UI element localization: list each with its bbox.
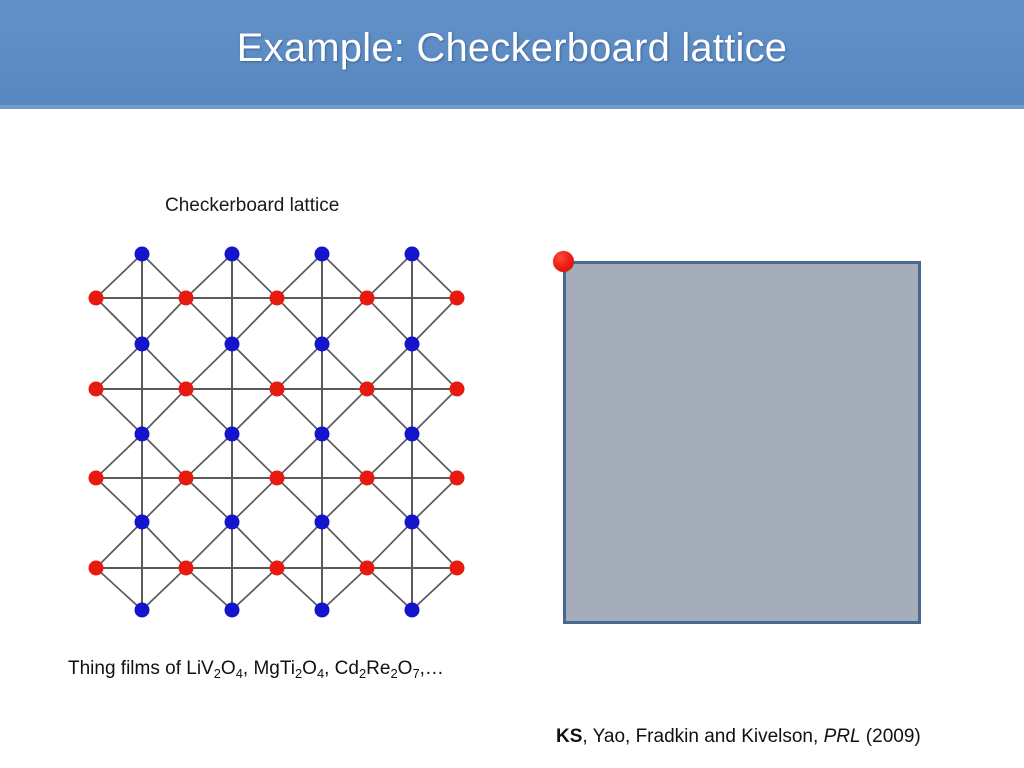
lattice-bond-diagonal	[367, 254, 412, 298]
lattice-node-blue	[135, 337, 150, 352]
lattice-bond-diagonal	[142, 389, 186, 434]
lattice-node-blue	[405, 247, 420, 262]
lattice-node-red	[360, 471, 375, 486]
lattice-bond-diagonal	[412, 522, 457, 568]
lattice-node-red	[89, 291, 104, 306]
lattice-bond-diagonal	[186, 298, 232, 344]
lattice-bond-diagonal	[232, 389, 277, 434]
caption-text: O	[302, 658, 317, 679]
lattice-bond-diagonal	[96, 434, 142, 478]
caption-subscript: 2	[295, 666, 302, 681]
lattice-node-red	[179, 471, 194, 486]
lattice-bond-diagonal	[367, 344, 412, 389]
lattice-bond-diagonal	[367, 522, 412, 568]
lattice-bond-diagonal	[322, 389, 367, 434]
citation-author-bold: KS	[556, 726, 582, 747]
lattice-node-red	[450, 382, 465, 397]
lattice-bond-diagonal	[367, 389, 412, 434]
lattice-node-red	[450, 291, 465, 306]
caption-subscript: 2	[359, 666, 366, 681]
lattice-node-blue	[225, 337, 240, 352]
lattice-node-red	[89, 471, 104, 486]
lattice-bond-diagonal	[322, 434, 367, 478]
lattice-bond-diagonal	[412, 344, 457, 389]
lattice-node-red	[179, 561, 194, 576]
lattice-bond-diagonal	[96, 478, 142, 522]
caption-subscript: 4	[317, 666, 324, 681]
lattice-bond-diagonal	[322, 298, 367, 344]
caption-text: O	[398, 658, 413, 679]
lattice-node-blue	[135, 247, 150, 262]
citation-year: (2009)	[861, 726, 921, 747]
lattice-bond-diagonal	[232, 344, 277, 389]
lattice-node-red	[179, 382, 194, 397]
lattice-bond-diagonal	[142, 434, 186, 478]
lattice-node-blue	[405, 337, 420, 352]
lattice-node-blue	[315, 247, 330, 262]
lattice-bond-diagonal	[142, 344, 186, 389]
lattice-node-red	[360, 561, 375, 576]
lattice-bond-diagonal	[142, 522, 186, 568]
citation-authors: , Yao, Fradkin and Kivelson,	[582, 726, 823, 747]
lattice-bond-diagonal	[186, 522, 232, 568]
lattice-bond-diagonal	[277, 522, 322, 568]
lattice-bond-diagonal	[412, 298, 457, 344]
lattice-bond-diagonal	[367, 478, 412, 522]
lattice-bond-diagonal	[367, 568, 412, 610]
checkerboard-lattice-figure	[80, 238, 480, 630]
caption-text: , MgTi	[243, 658, 295, 679]
lattice-bond-diagonal	[96, 389, 142, 434]
lattice-bond-diagonal	[277, 389, 322, 434]
lattice-node-blue	[225, 603, 240, 618]
title-banner-bottom-edge	[0, 105, 1024, 109]
lattice-nodes	[89, 247, 465, 618]
lattice-bond-diagonal	[367, 298, 412, 344]
page-title: Example: Checkerboard lattice	[0, 26, 1024, 71]
lattice-bond-diagonal	[412, 434, 457, 478]
lattice-bond-diagonal	[232, 434, 277, 478]
lattice-bond-diagonal	[232, 254, 277, 298]
lattice-bond-diagonal	[186, 254, 232, 298]
lattice-node-blue	[135, 603, 150, 618]
lattice-bond-diagonal	[412, 568, 457, 610]
lattice-bond-diagonal	[142, 478, 186, 522]
caption-subscript: 4	[236, 666, 243, 681]
lattice-bond-diagonal	[322, 344, 367, 389]
lattice-node-blue	[225, 515, 240, 530]
lattice-node-blue	[225, 427, 240, 442]
caption-subscript: 7	[412, 666, 419, 681]
caption-text: ,…	[420, 658, 444, 679]
lattice-node-blue	[315, 515, 330, 530]
lattice-bond-diagonal	[412, 478, 457, 522]
lattice-bond-diagonal	[186, 434, 232, 478]
lattice-bond-diagonal	[322, 478, 367, 522]
lattice-node-blue	[315, 603, 330, 618]
lattice-bond-diagonal	[186, 344, 232, 389]
lattice-bond-diagonal	[277, 254, 322, 298]
lattice-node-red	[270, 291, 285, 306]
lattice-bond-diagonal	[367, 434, 412, 478]
lattice-bond-diagonal	[232, 568, 277, 610]
lattice-node-red	[360, 291, 375, 306]
lattice-node-blue	[315, 427, 330, 442]
lattice-node-red	[360, 382, 375, 397]
caption-text: Thing films of LiV	[68, 658, 214, 679]
lattice-bond-diagonal	[96, 344, 142, 389]
caption-text: O	[221, 658, 236, 679]
lattice-node-blue	[135, 427, 150, 442]
lattice-node-blue	[225, 247, 240, 262]
lattice-bond-diagonal	[186, 389, 232, 434]
title-banner: Example: Checkerboard lattice	[0, 0, 1024, 109]
lattice-node-blue	[405, 603, 420, 618]
lattice-node-blue	[405, 427, 420, 442]
caption-text: , Cd	[324, 658, 359, 679]
lattice-figure-label: Checkerboard lattice	[165, 195, 339, 217]
lattice-bond-diagonal	[277, 298, 322, 344]
lattice-bonds	[96, 254, 457, 610]
gray-panel	[563, 261, 921, 624]
citation-line: KS, Yao, Fradkin and Kivelson, PRL (2009…	[556, 726, 921, 748]
lattice-node-red	[179, 291, 194, 306]
lattice-bond-diagonal	[232, 478, 277, 522]
caption-subscript: 2	[214, 666, 221, 681]
lattice-bond-diagonal	[277, 478, 322, 522]
materials-caption: Thing films of LiV2O4, MgTi2O4, Cd2Re2O7…	[68, 658, 444, 680]
lattice-node-red	[270, 382, 285, 397]
lattice-bond-diagonal	[412, 389, 457, 434]
lattice-node-blue	[135, 515, 150, 530]
lattice-bond-diagonal	[96, 568, 142, 610]
lattice-bond-diagonal	[322, 254, 367, 298]
lattice-bond-diagonal	[277, 568, 322, 610]
lattice-node-red	[450, 471, 465, 486]
lattice-bond-diagonal	[277, 344, 322, 389]
lattice-bond-diagonal	[142, 298, 186, 344]
lattice-bond-diagonal	[142, 568, 186, 610]
lattice-node-red	[270, 561, 285, 576]
caption-text: Re	[366, 658, 390, 679]
lattice-node-blue	[315, 337, 330, 352]
lattice-bond-diagonal	[186, 478, 232, 522]
slide-canvas: Example: Checkerboard lattice Checkerboa…	[0, 0, 1024, 768]
lattice-bond-diagonal	[277, 434, 322, 478]
lattice-diagram	[80, 238, 480, 630]
lattice-bond-diagonal	[412, 254, 457, 298]
lattice-bond-diagonal	[232, 298, 277, 344]
lattice-bond-diagonal	[322, 522, 367, 568]
lattice-bond-diagonal	[96, 298, 142, 344]
lattice-bond-diagonal	[232, 522, 277, 568]
lattice-bond-diagonal	[142, 254, 186, 298]
lattice-bond-diagonal	[96, 254, 142, 298]
lattice-bond-diagonal	[186, 568, 232, 610]
lattice-node-blue	[405, 515, 420, 530]
lattice-bond-diagonal	[322, 568, 367, 610]
lattice-node-red	[270, 471, 285, 486]
caption-subscript: 2	[390, 666, 397, 681]
lattice-bond-diagonal	[96, 522, 142, 568]
lattice-node-red	[450, 561, 465, 576]
red-corner-dot-icon	[553, 251, 574, 272]
citation-journal: PRL	[824, 726, 861, 747]
lattice-node-red	[89, 382, 104, 397]
lattice-node-red	[89, 561, 104, 576]
